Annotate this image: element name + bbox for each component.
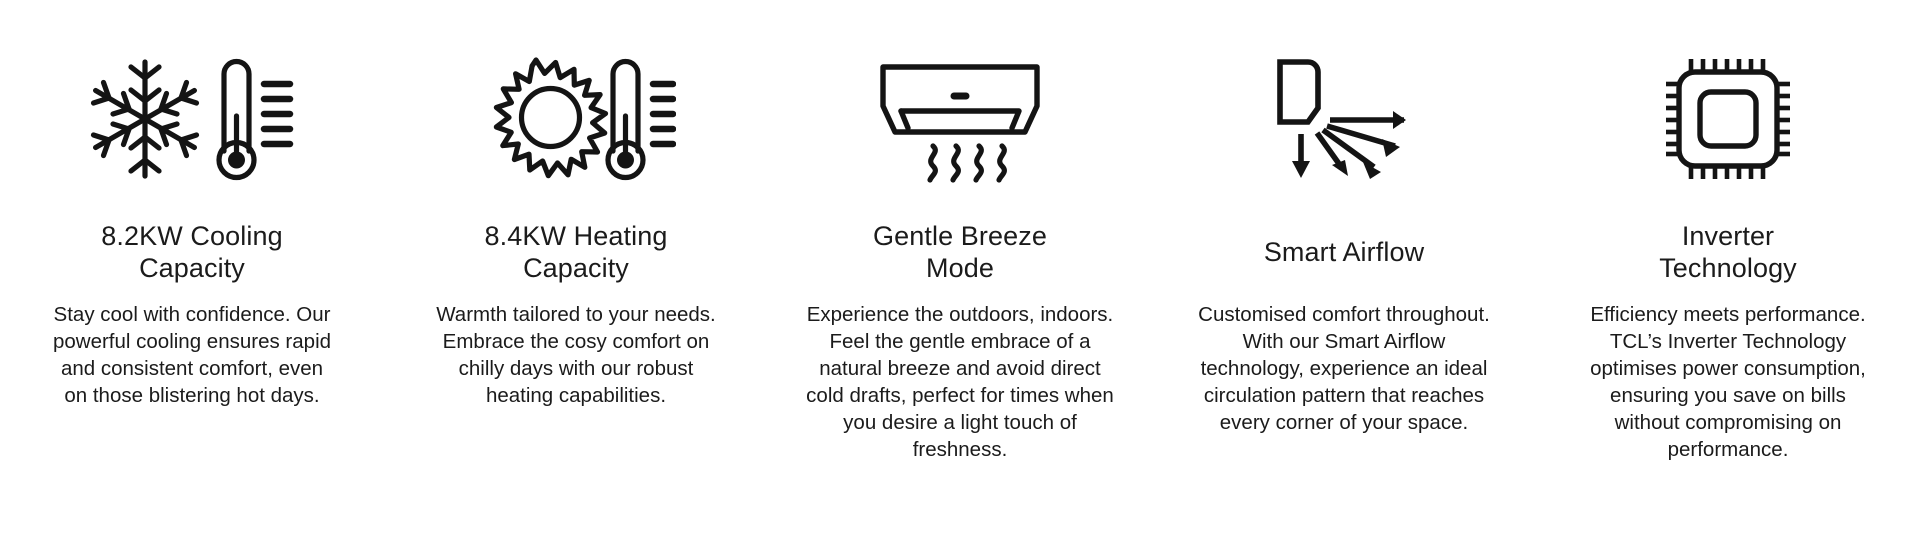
feature-card-smart-airflow: Smart Airflow Customised comfort through… [1152,44,1536,436]
cpu-chip-icon [1552,44,1904,194]
feature-title: Smart Airflow [1264,220,1424,284]
feature-description: Experience the outdoors, indoors. Feel t… [806,301,1114,463]
feature-title: Inverter Technology [1659,220,1797,284]
feature-title: Gentle Breeze Mode [873,220,1047,284]
air-conditioner-breeze-icon [784,44,1136,194]
feature-description: Warmth tailored to your needs. Embrace t… [436,301,716,409]
feature-card-cooling: 8.2KW Cooling Capacity Stay cool with co… [0,44,384,409]
feature-strip: 8.2KW Cooling Capacity Stay cool with co… [0,0,1920,560]
feature-card-inverter: Inverter Technology Efficiency meets per… [1536,44,1920,463]
airflow-louver-arrows-icon [1168,44,1520,194]
feature-description: Efficiency meets performance. TCL’s Inve… [1590,301,1866,463]
feature-description: Stay cool with confidence. Our powerful … [53,301,331,409]
feature-title: 8.4KW Heating Capacity [485,220,668,284]
sun-thermometer-icon [400,44,752,194]
snowflake-thermometer-icon [16,44,368,194]
feature-card-heating: 8.4KW Heating Capacity Warmth tailored t… [384,44,768,409]
feature-title: 8.2KW Cooling Capacity [101,220,282,284]
feature-card-gentle-breeze: Gentle Breeze Mode Experience the outdoo… [768,44,1152,463]
feature-description: Customised comfort throughout. With our … [1198,301,1490,436]
